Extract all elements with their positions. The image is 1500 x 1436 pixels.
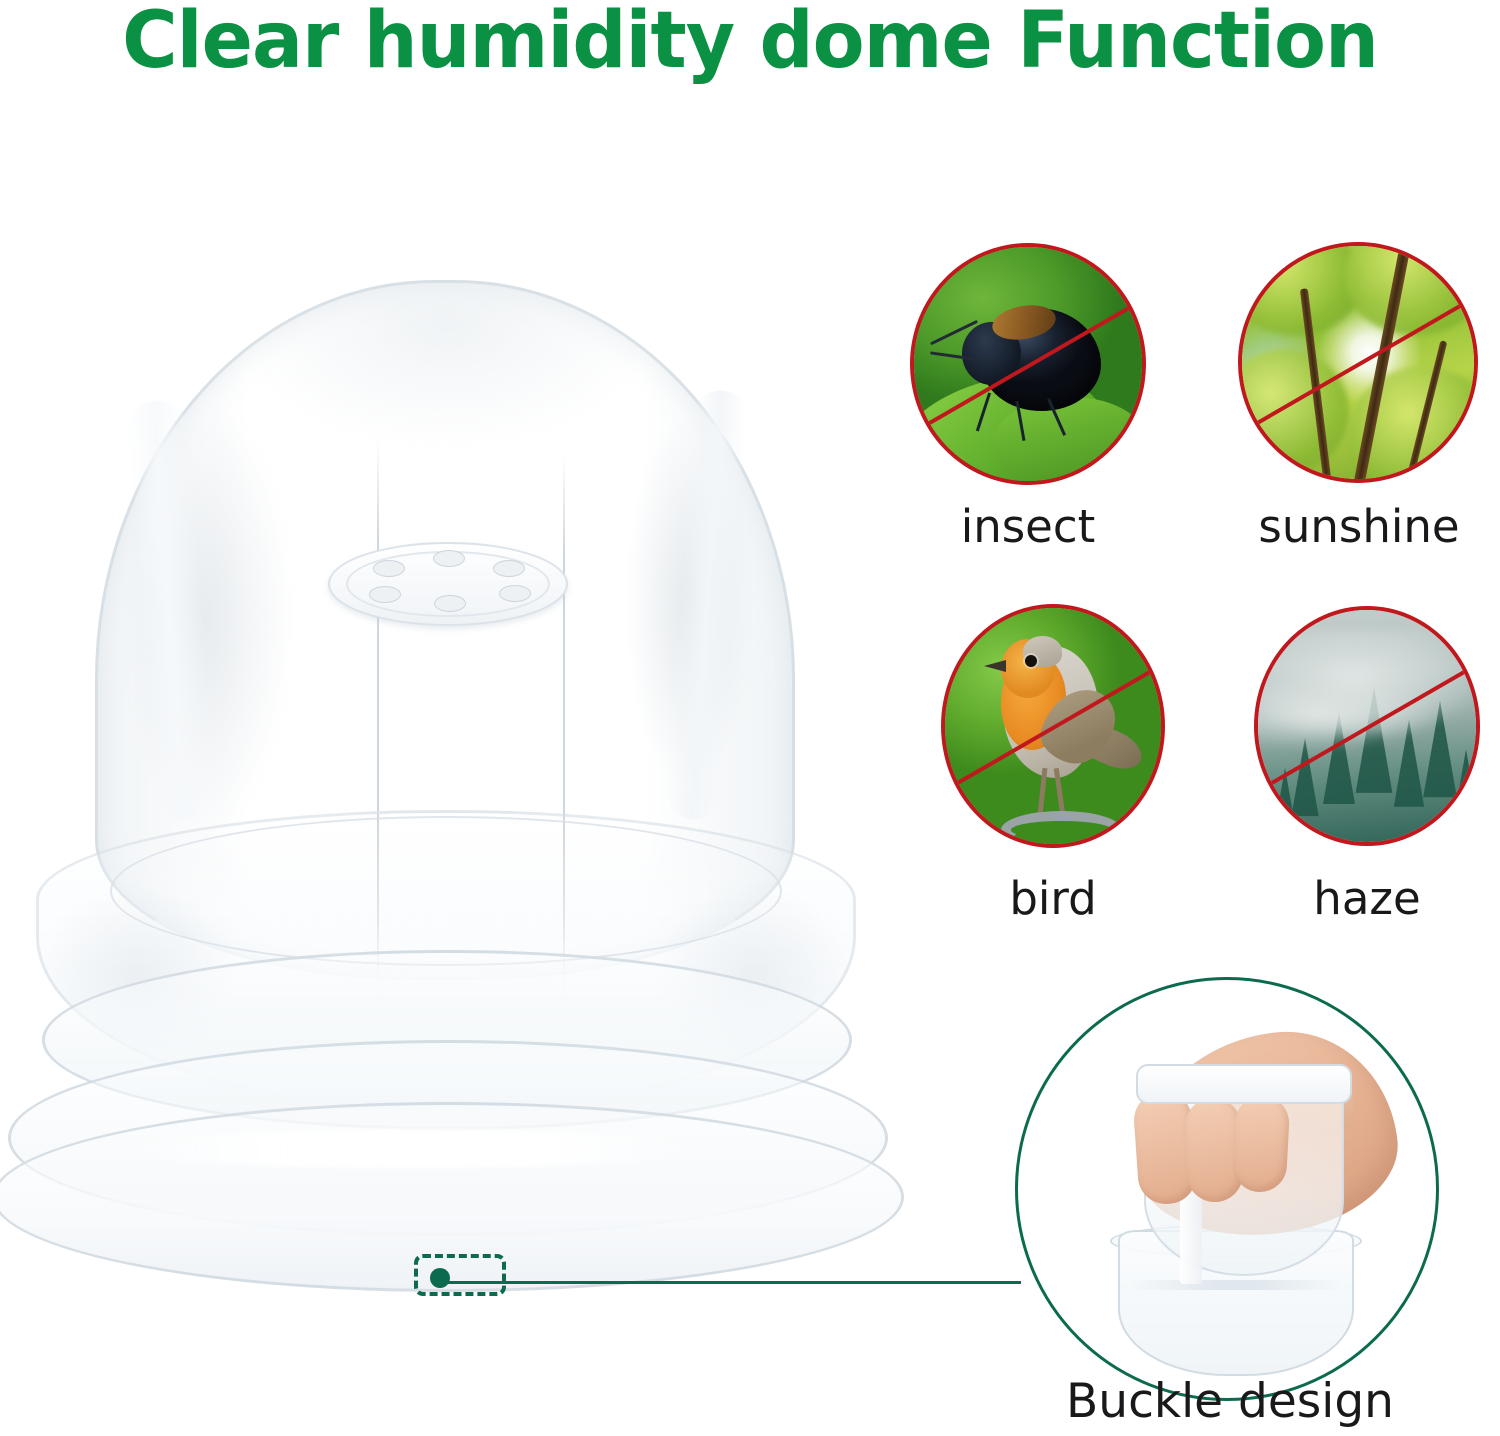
foliage-icon (1344, 242, 1478, 335)
callout-connector-line (446, 1281, 1021, 1284)
buckle-marker-box (414, 1254, 506, 1296)
foliage-icon (1238, 349, 1349, 475)
product-dome-illustration (0, 250, 930, 1320)
beetle-photo-icon (910, 243, 1146, 485)
vent-hole-icon (499, 585, 531, 602)
mini-dome-ridge (1128, 1280, 1344, 1290)
metal-perch-icon (1001, 811, 1122, 848)
feature-label-sunshine: sunshine (1228, 500, 1490, 553)
hand-holding-dome-photo-icon (1015, 977, 1439, 1401)
vent-hole-icon (493, 560, 525, 577)
bird-leg (1038, 768, 1048, 815)
vent-hole-icon (373, 560, 405, 577)
dome-rim-gloss (100, 1130, 720, 1168)
conifer-icon (1453, 749, 1479, 823)
fog-layer (1254, 680, 1480, 750)
buckle-design-label: Buckle design (1000, 1374, 1460, 1429)
robin-photo-icon (941, 604, 1165, 848)
foggy-forest-photo-icon (1254, 606, 1480, 846)
bird-beak (984, 660, 1006, 672)
buckle-marker-dot-icon (430, 1268, 450, 1288)
bird-eye (1025, 655, 1037, 667)
infographic-canvas: Clear humidity dome Function (0, 0, 1500, 1436)
vent-hole-icon (434, 595, 466, 612)
dome-inner-ring (110, 816, 782, 966)
feature-label-haze: haze (1237, 872, 1497, 925)
vent-hole-icon (369, 586, 401, 603)
mini-dome-cap (1136, 1064, 1352, 1104)
finger-icon (1232, 1095, 1291, 1194)
sunlit-canopy-photo-icon (1238, 242, 1478, 483)
vent-hole-icon (433, 550, 465, 567)
feature-label-bird: bird (923, 872, 1183, 925)
foliage-icon (1238, 242, 1363, 335)
page-title: Clear humidity dome Function (23, 0, 1478, 86)
feature-label-insect: insect (898, 500, 1158, 553)
